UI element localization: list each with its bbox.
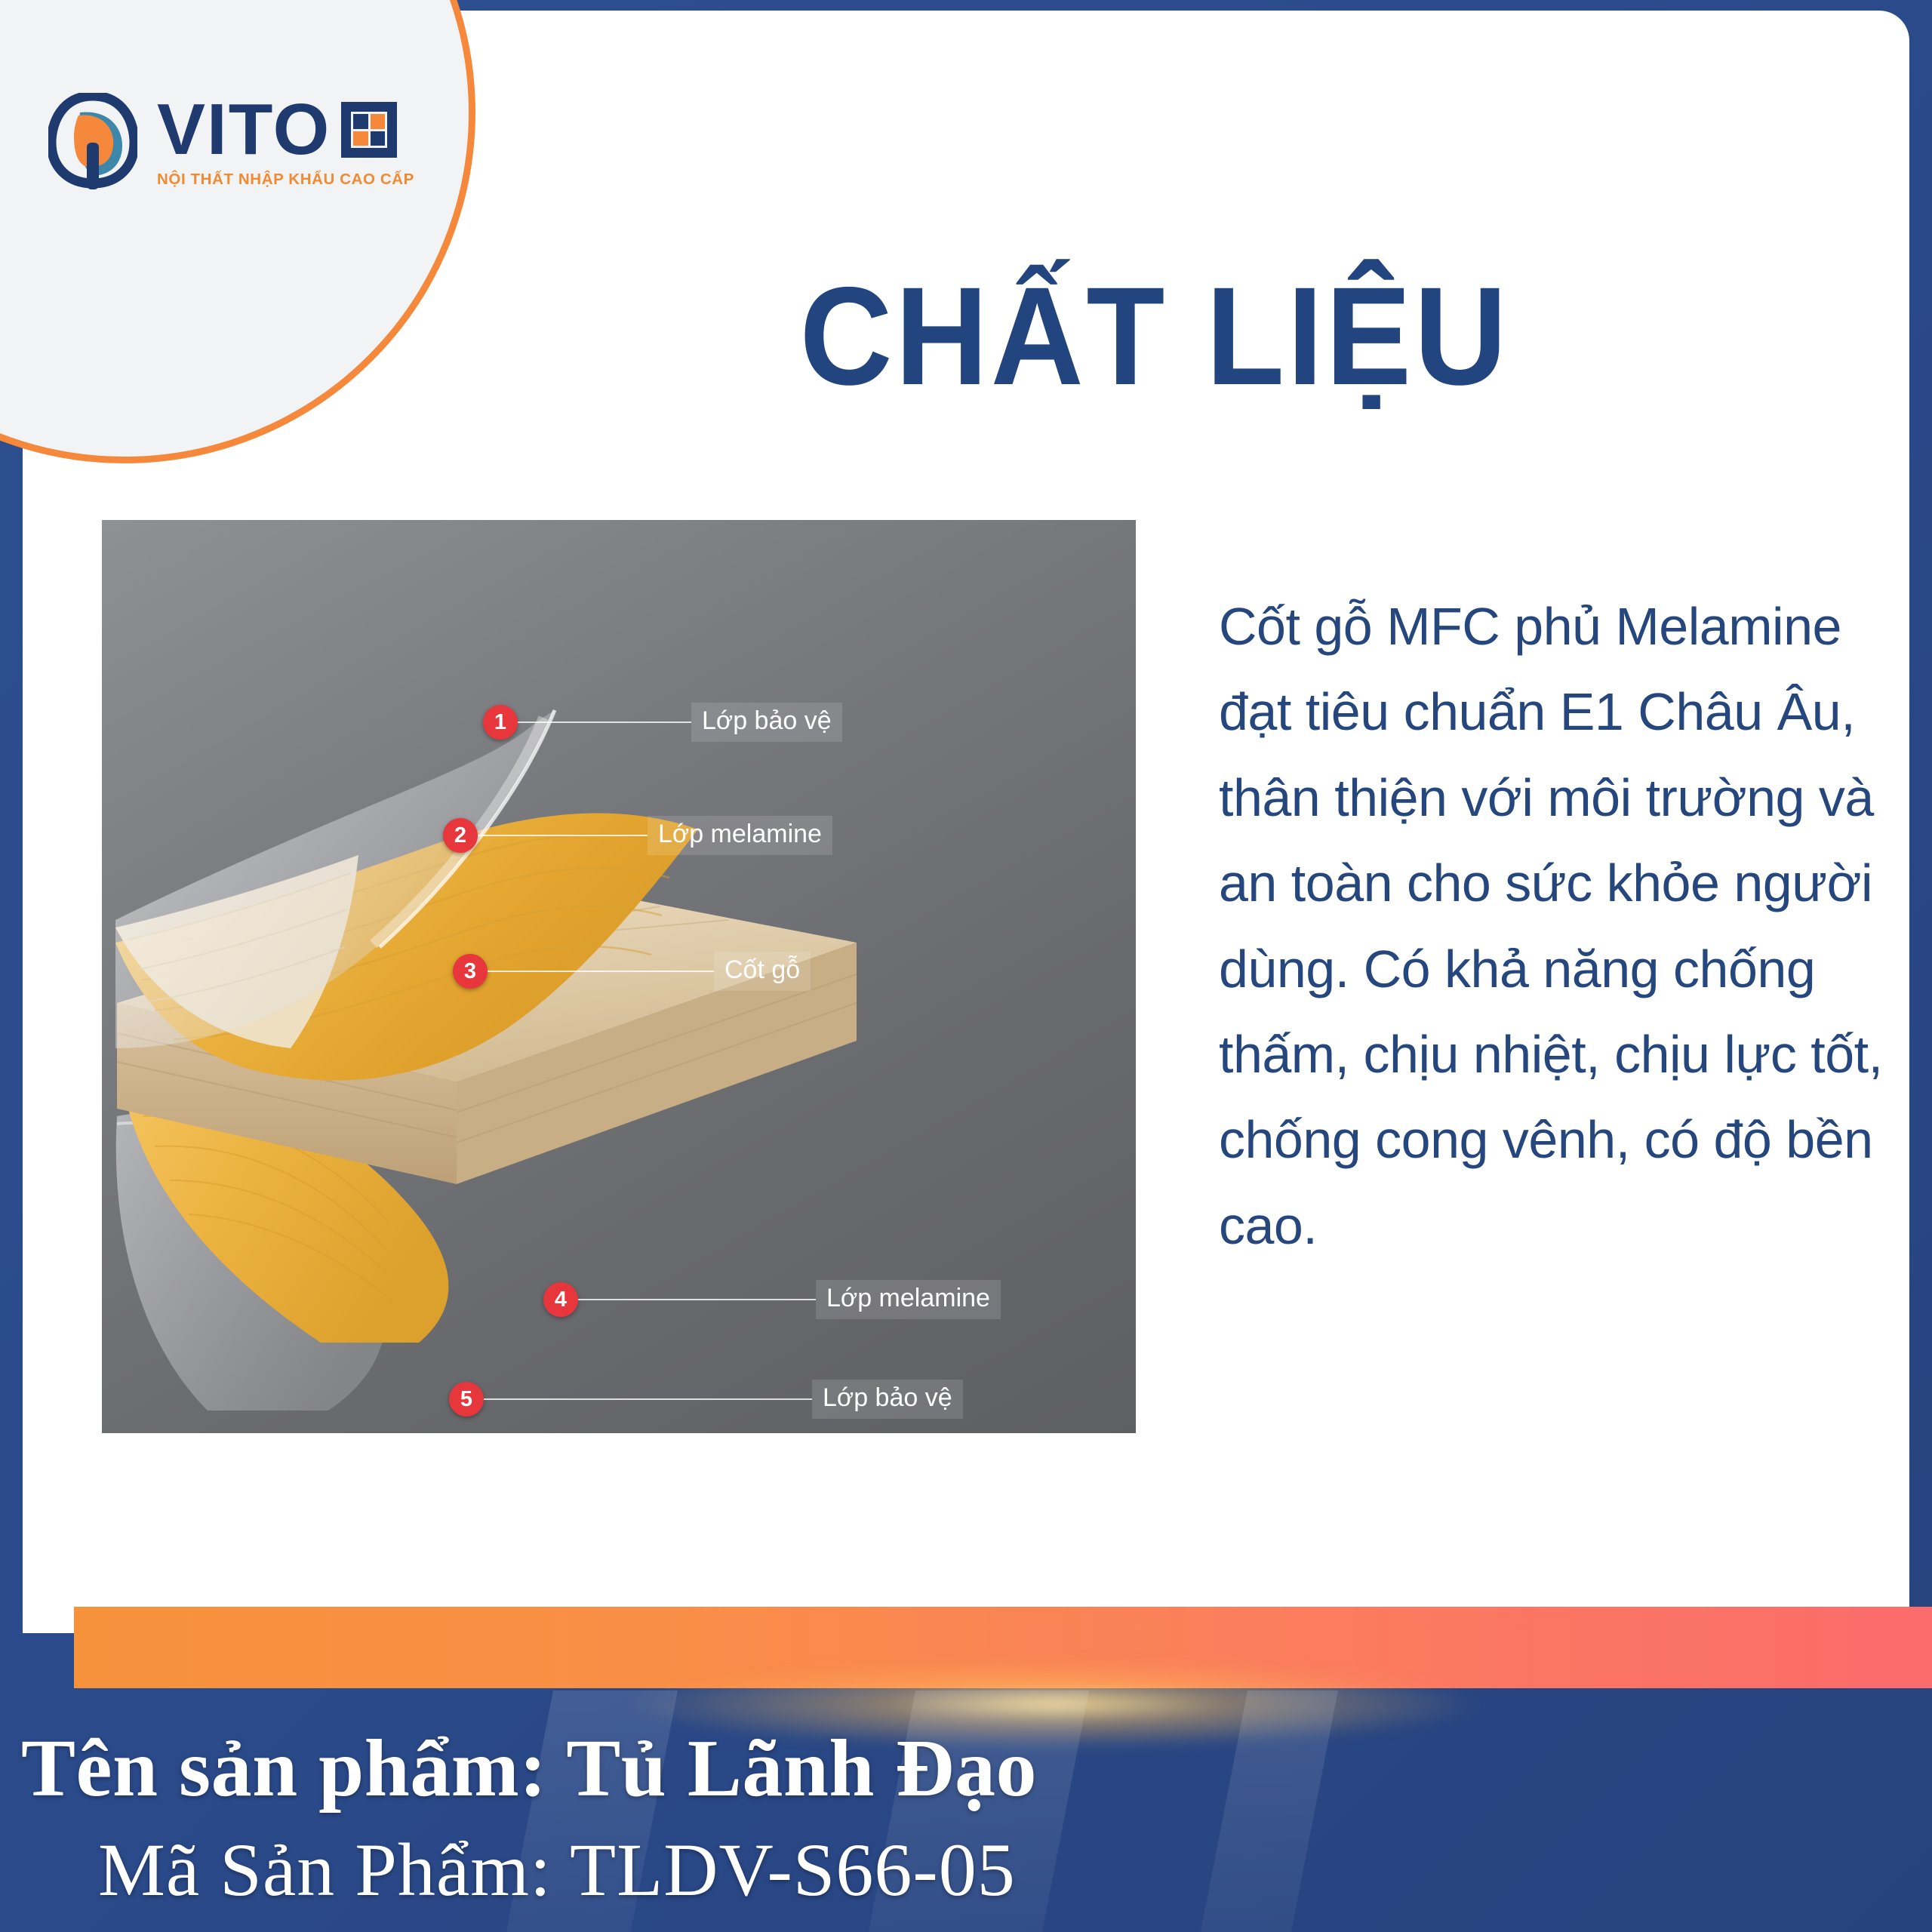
- product-code-text: Mã Sản Phẩm: TLDV-S66-05: [0, 1826, 1932, 1913]
- callout-label: Lớp bảo vệ: [691, 703, 842, 742]
- white-content-card: VITO NỘI THẤT NHẬP KHẨU CAO CẤP CHẤT LIỆ…: [23, 11, 1909, 1633]
- brand-tagline: NỘI THẤT NHẬP KHẨU CAO CẤP: [157, 171, 414, 189]
- callout-leader-line: [578, 1299, 816, 1300]
- callout-5: 5 Lớp bảo vệ: [449, 1378, 963, 1420]
- brand-logo: VITO NỘI THẤT NHẬP KHẨU CAO CẤP: [48, 66, 441, 217]
- callout-label: Cốt gỗ: [714, 952, 811, 991]
- callout-3: 3 Cốt gỗ: [453, 950, 811, 992]
- callout-2: 2 Lớp melamine: [443, 814, 832, 857]
- callout-number: 2: [443, 818, 478, 853]
- callout-label: Lớp bảo vệ: [812, 1380, 963, 1419]
- brand-square-icon: [341, 102, 397, 158]
- callout-number: 1: [483, 705, 518, 740]
- brand-logo-badge: VITO NỘI THẤT NHẬP KHẨU CAO CẤP: [0, 0, 475, 463]
- callout-leader-line: [518, 721, 691, 723]
- callout-leader-line: [484, 1398, 812, 1400]
- callout-number: 3: [453, 954, 488, 989]
- callout-label: Lớp melamine: [816, 1280, 1001, 1319]
- brand-wordmark: VITO NỘI THẤT NHẬP KHẨU CAO CẤP: [157, 95, 414, 188]
- material-description: Cốt gỗ MFC phủ Melamine đạt tiêu chuẩn E…: [1219, 584, 1883, 1269]
- poster-root: VITO NỘI THẤT NHẬP KHẨU CAO CẤP CHẤT LIỆ…: [0, 0, 1932, 1932]
- callout-1: 1 Lớp bảo vệ: [483, 701, 842, 743]
- footer-bar: Tên sản phẩm: Tủ Lãnh Đạo Mã Sản Phẩm: T…: [0, 1690, 1932, 1932]
- callout-4: 4 Lớp melamine: [543, 1278, 1001, 1321]
- leaf-drop-logo-icon: [48, 93, 137, 191]
- orange-divider-bar: [74, 1607, 1932, 1688]
- page-title: CHẤT LIỆU: [697, 267, 1613, 407]
- callout-leader-line: [488, 971, 714, 972]
- material-layers-diagram: 1 Lớp bảo vệ 2 Lớp melamine 3 Cốt gỗ 4 L…: [102, 520, 1136, 1433]
- callout-label: Lớp melamine: [648, 816, 832, 855]
- callout-number: 5: [449, 1382, 484, 1417]
- brand-name: VITO: [157, 95, 331, 164]
- product-name-text: Tên sản phẩm: Tủ Lãnh Đạo: [0, 1722, 1932, 1816]
- callout-number: 4: [543, 1282, 578, 1317]
- callout-leader-line: [478, 835, 648, 836]
